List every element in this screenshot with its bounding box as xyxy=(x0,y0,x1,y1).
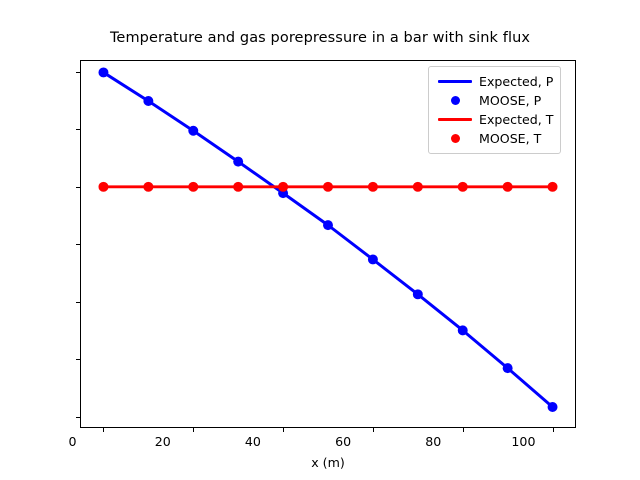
legend-item: MOOSE, P xyxy=(435,91,553,110)
data-point-marker xyxy=(413,289,423,299)
data-point-marker xyxy=(188,182,198,192)
x-axis-label: x (m) xyxy=(80,455,576,470)
data-point-marker xyxy=(458,325,468,335)
x-tick-mark xyxy=(373,428,374,432)
data-point-marker xyxy=(278,182,288,192)
figure-canvas: Temperature and gas porepressure in a ba… xyxy=(0,0,640,480)
chart-legend: Expected, PMOOSE, PExpected, TMOOSE, T xyxy=(428,66,561,154)
legend-label: MOOSE, T xyxy=(475,131,541,146)
data-point-marker xyxy=(413,182,423,192)
data-point-marker xyxy=(458,182,468,192)
data-point-marker xyxy=(323,220,333,230)
data-point-marker xyxy=(143,182,153,192)
legend-line-icon xyxy=(435,110,475,129)
x-tick-label: 100 xyxy=(493,434,553,449)
x-tick-mark xyxy=(553,428,554,432)
x-tick-label: 60 xyxy=(313,434,373,449)
x-tick-label: 0 xyxy=(43,434,103,449)
data-point-marker xyxy=(233,157,243,167)
x-tick-label: 80 xyxy=(403,434,463,449)
data-point-marker xyxy=(503,363,513,373)
data-point-marker xyxy=(368,254,378,264)
data-point-marker xyxy=(368,182,378,192)
legend-item: Expected, P xyxy=(435,72,553,91)
data-point-marker xyxy=(188,126,198,136)
legend-item: MOOSE, T xyxy=(435,129,553,148)
x-tick-mark xyxy=(283,428,284,432)
x-tick-mark xyxy=(103,428,104,432)
x-tick-mark xyxy=(463,428,464,432)
data-point-marker xyxy=(548,182,558,192)
legend-dot-icon xyxy=(435,129,475,148)
x-tick-label: 20 xyxy=(133,434,193,449)
x-tick-mark xyxy=(193,428,194,432)
data-point-marker xyxy=(323,182,333,192)
legend-label: MOOSE, P xyxy=(475,93,541,108)
legend-dot-icon xyxy=(435,91,475,110)
data-point-marker xyxy=(233,182,243,192)
data-point-marker xyxy=(548,402,558,412)
legend-label: Expected, T xyxy=(475,112,553,127)
data-point-marker xyxy=(98,67,108,77)
legend-line-icon xyxy=(435,72,475,91)
chart-title: Temperature and gas porepressure in a ba… xyxy=(0,30,640,46)
legend-label: Expected, P xyxy=(475,74,553,89)
x-tick-label: 40 xyxy=(223,434,283,449)
data-point-marker xyxy=(98,182,108,192)
legend-item: Expected, T xyxy=(435,110,553,129)
data-point-marker xyxy=(143,96,153,106)
data-point-marker xyxy=(503,182,513,192)
